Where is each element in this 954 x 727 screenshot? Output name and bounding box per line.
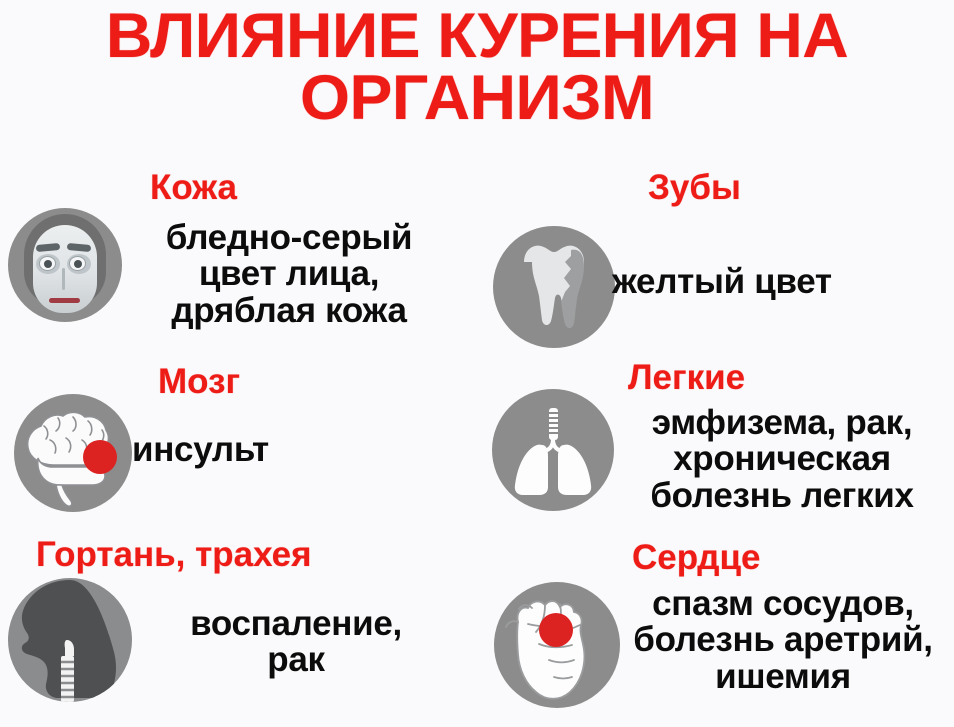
heart-icon (494, 582, 620, 708)
throat-profile-icon (8, 578, 132, 702)
face-nose (62, 268, 65, 290)
section-body-larynx: воспаление, рак (136, 606, 456, 679)
section-heading-heart: Сердце (632, 540, 760, 575)
title-line-1: ВЛИЯНИЕ КУРЕНИЯ НА (106, 1, 848, 71)
section-body-teeth: желтый цвет (612, 264, 942, 300)
section-body-skin: бледно-серый цвет лица, дряблая кожа (124, 220, 454, 329)
brain-icon (14, 394, 132, 512)
face-pupil-left (44, 260, 52, 268)
section-body-lungs: эмфизема, рак, хроническая болезнь легки… (612, 405, 952, 514)
lungs-icon (492, 389, 614, 511)
tooth-icon (493, 226, 615, 348)
section-body-brain: инсульт (132, 432, 432, 468)
sad-gray-face-icon (8, 208, 122, 322)
section-heading-skin: Кожа (150, 170, 237, 205)
page-title: ВЛИЯНИЕ КУРЕНИЯ НА ОРГАНИЗМ (0, 6, 954, 129)
section-body-heart: спазм сосудов, болезнь аретрий, ишемия (608, 586, 954, 695)
face-pupil-right (74, 260, 82, 268)
section-heading-brain: Мозг (158, 364, 240, 399)
title-line-2: ОРГАНИЗМ (0, 68, 954, 130)
face-mouth (49, 298, 80, 303)
section-heading-teeth: Зубы (648, 170, 741, 205)
section-heading-lungs: Легкие (628, 360, 745, 395)
section-heading-larynx: Гортань, трахея (36, 537, 312, 572)
